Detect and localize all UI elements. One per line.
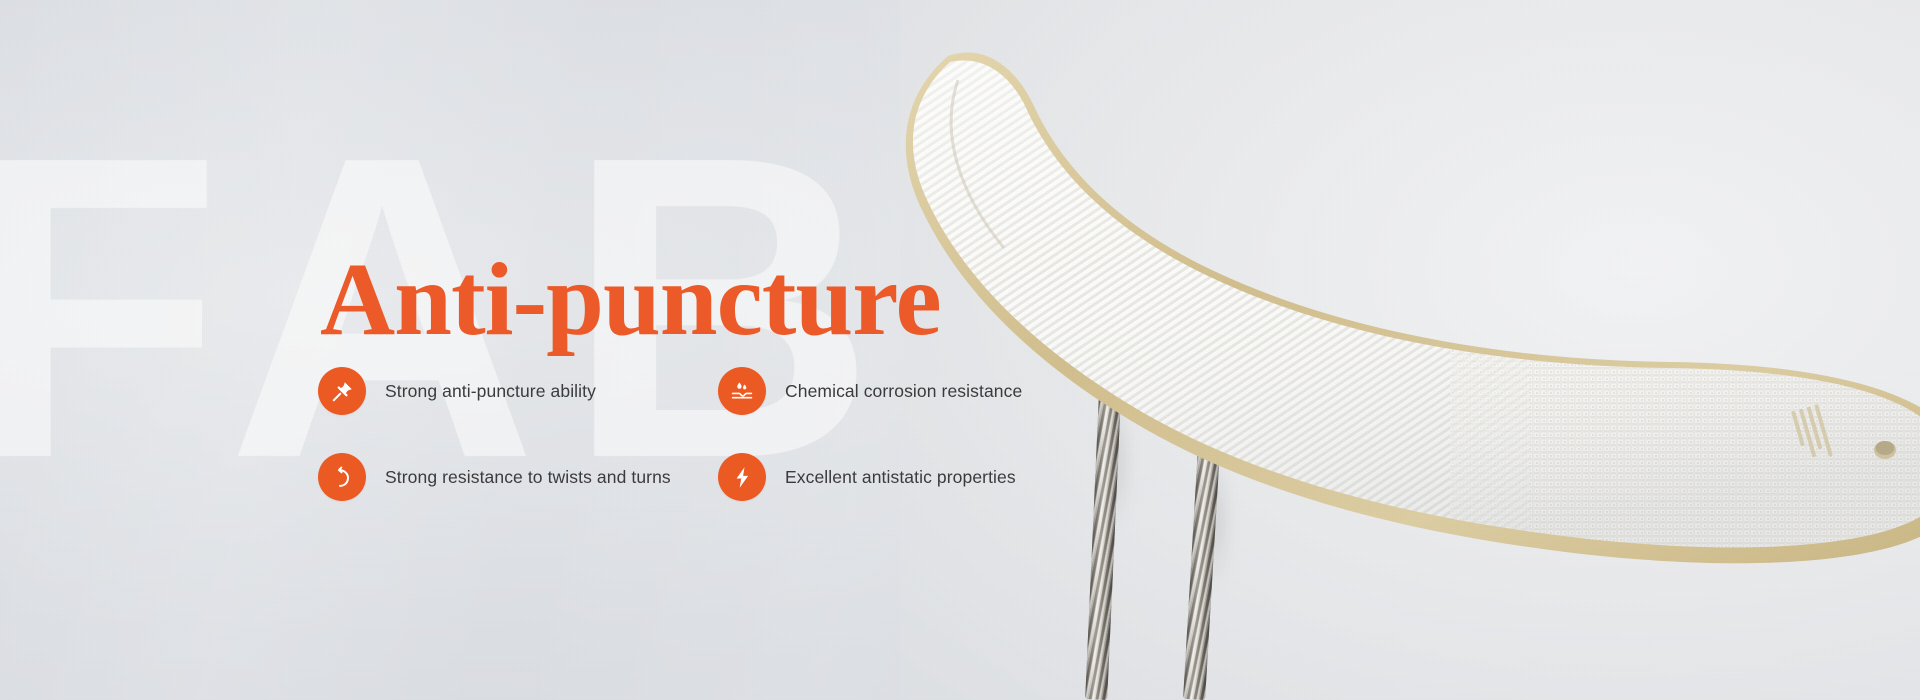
spike-tip-highlight: [1212, 304, 1221, 334]
spike-threads: [1183, 329, 1227, 700]
pushpin-icon: [318, 367, 366, 415]
feature-item-chemical-corrosion[interactable]: Chemical corrosion resistance: [718, 348, 1118, 434]
banner-content: Anti-puncture Strong anti-puncture abili…: [0, 0, 1100, 700]
insole-printed-marking: [1791, 404, 1833, 464]
feature-item-anti-puncture[interactable]: Strong anti-puncture ability: [318, 348, 718, 434]
spike-shadow-right: [1193, 420, 1239, 620]
feature-list: Strong anti-puncture ability Chemical co…: [318, 348, 1118, 520]
feature-item-antistatic[interactable]: Excellent antistatic properties: [718, 434, 1118, 520]
feature-label: Strong anti-puncture ability: [385, 381, 596, 402]
insole-hang-hole-inner: [1876, 441, 1895, 455]
feature-item-twist-resistance[interactable]: Strong resistance to twists and turns: [318, 434, 718, 520]
lightning-icon: [718, 453, 766, 501]
feature-label: Chemical corrosion resistance: [785, 381, 1022, 402]
steel-spike-right: [1183, 329, 1227, 700]
page-title: Anti-puncture: [320, 246, 941, 354]
spike-tip-highlight: [1112, 236, 1121, 266]
spike-tip: [1105, 232, 1129, 267]
feature-label: Excellent antistatic properties: [785, 467, 1016, 488]
anti-puncture-banner: FABRIC: [0, 0, 1920, 700]
spike-tip: [1205, 299, 1229, 334]
insole-hang-hole: [1874, 441, 1896, 459]
corrosion-icon: [718, 367, 766, 415]
feature-label: Strong resistance to twists and turns: [385, 467, 671, 488]
twist-icon: [318, 453, 366, 501]
